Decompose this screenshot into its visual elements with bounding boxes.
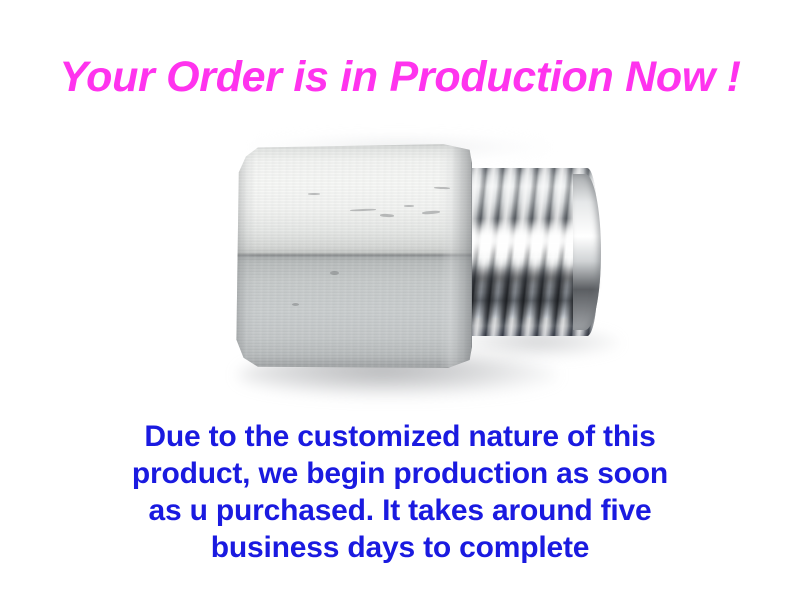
thread-end-cap xyxy=(573,174,601,330)
page-title: Your Order is in Production Now ! xyxy=(0,52,800,102)
product-announcement-image: Your Order is in Production Now ! xyxy=(0,0,800,600)
hex-nut-body xyxy=(234,143,472,369)
notice-line: product, we begin production as soon xyxy=(0,455,800,492)
production-notice-text: Due to the customized nature of this pro… xyxy=(0,418,800,566)
hex-outline xyxy=(234,143,472,369)
male-threaded-nipple xyxy=(455,168,597,336)
notice-line: as u purchased. It takes around five xyxy=(0,492,800,529)
product-photo xyxy=(0,110,800,410)
notice-line: Due to the customized nature of this xyxy=(0,418,800,455)
notice-line: business days to complete xyxy=(0,529,800,566)
